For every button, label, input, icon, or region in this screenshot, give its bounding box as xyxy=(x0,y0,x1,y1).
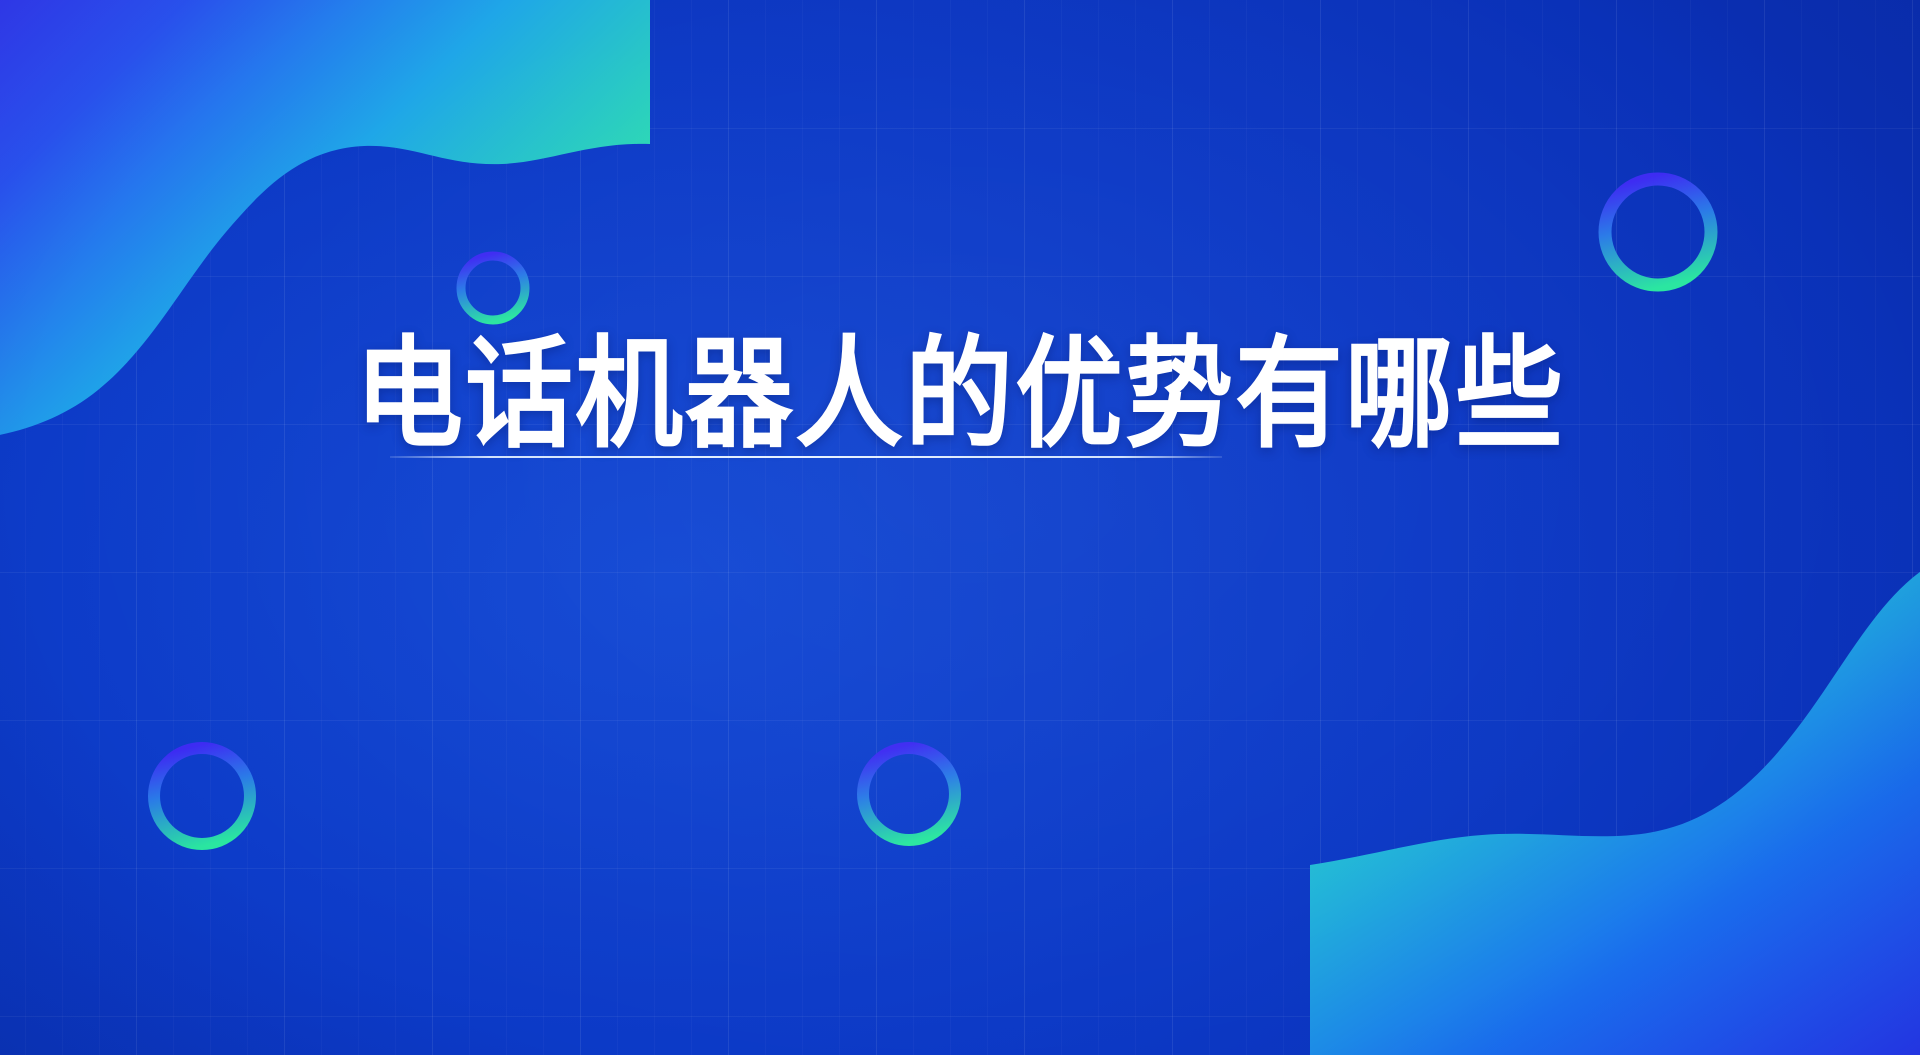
title-underline-rule xyxy=(390,456,1222,458)
vignette-overlay xyxy=(0,0,1920,1055)
background-grid xyxy=(0,0,1920,1055)
title-block: 电话机器人的优势有哪些 xyxy=(0,332,1920,446)
wave-blob-bottom-right xyxy=(1310,543,1920,1055)
page-title: 电话机器人的优势有哪些 xyxy=(355,332,1565,460)
decor-ring-top-right xyxy=(1596,170,1720,294)
decor-ring-bottom-center xyxy=(855,740,963,848)
decor-ring-mid-left xyxy=(455,250,531,326)
banner-canvas: 电话机器人的优势有哪些 xyxy=(0,0,1920,1055)
background-grid-fine xyxy=(0,0,1920,1055)
decor-ring-bottom-left xyxy=(146,740,258,852)
